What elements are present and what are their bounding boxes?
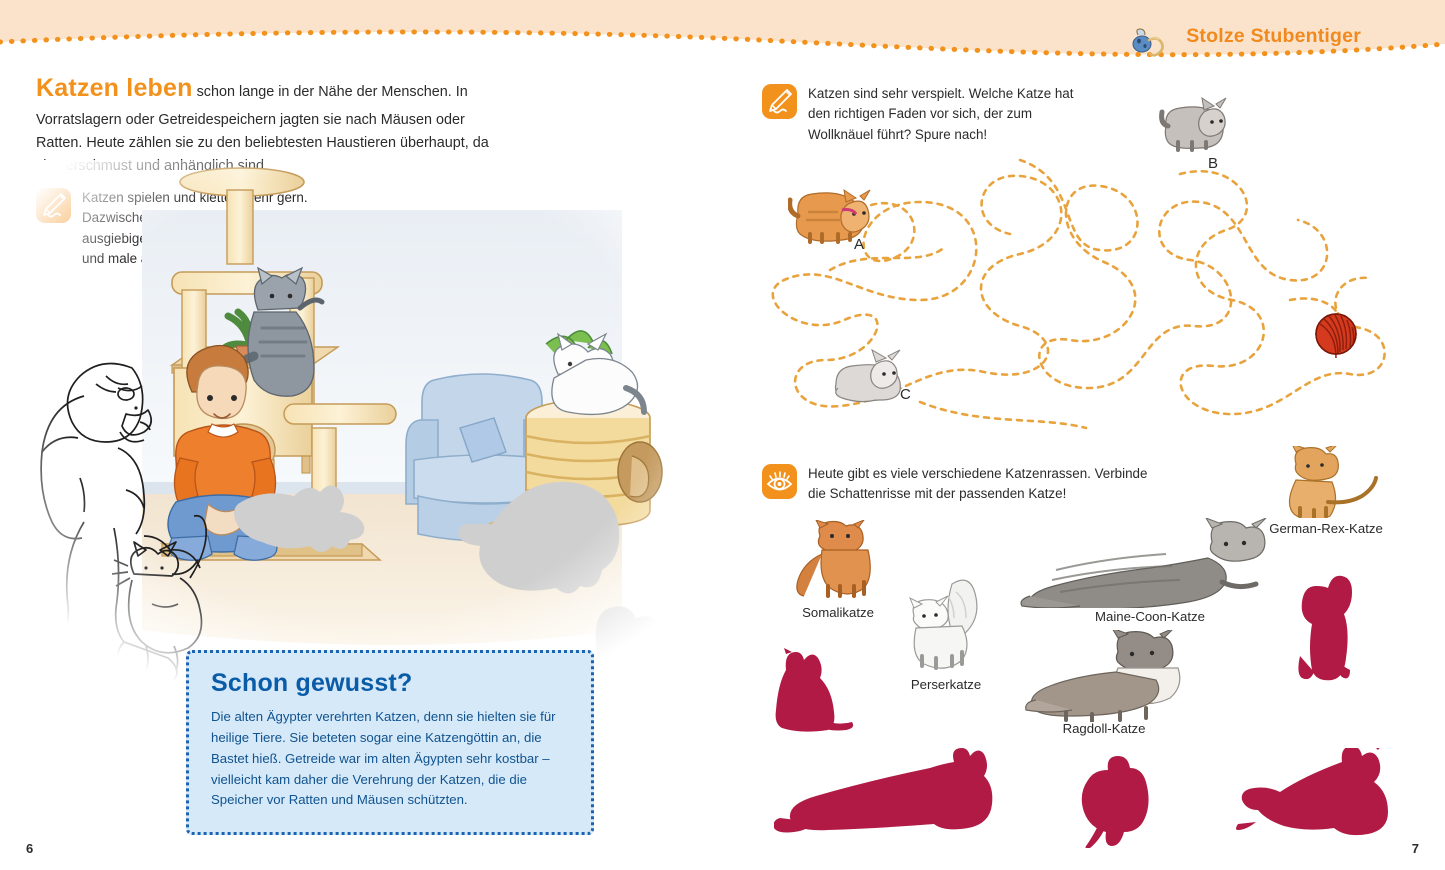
did-you-know-box: Schon gewusst? Die alten Ägypter verehrt… (186, 650, 594, 835)
page-title: Stolze Stubentiger (1186, 25, 1361, 48)
breed-caption: Maine-Coon-Katze (1016, 609, 1284, 624)
task-maze-text: Katzen sind sehr verspielt. Welche Katze… (808, 84, 1092, 145)
german-rex-cat (1256, 446, 1396, 518)
toy-mouse-icon (1128, 27, 1172, 61)
persian-cat (896, 572, 996, 672)
page-number-left: 6 (26, 841, 33, 856)
maze-cat-b (1158, 96, 1234, 159)
silhouette-standing-cat (1072, 756, 1160, 853)
maze-cat-c-label: C (900, 386, 911, 403)
silhouette-lying-long-cat (774, 748, 1004, 853)
breed-caption: Perserkatze (896, 677, 996, 692)
breed-caption: Ragdoll-Katze (1022, 721, 1186, 736)
maze-cat-a-label: A (854, 236, 864, 253)
ragdoll-cat (1022, 630, 1186, 722)
book-spread: Stolze Stubentiger Katzen leben schon la… (0, 0, 1445, 870)
pencil-icon (762, 84, 797, 119)
task-maze: Katzen sind sehr verspielt. Welche Katze… (762, 84, 1092, 145)
breed-german-rex-cat: German-Rex-Katze (1256, 446, 1396, 536)
breed-maine-coon-cat: Maine-Coon-Katze (1016, 518, 1284, 624)
somali-cat (788, 520, 888, 600)
task-matching: Heute gibt es viele verschiedene Katzenr… (762, 464, 1162, 505)
living-room-cat-illustration (22, 160, 702, 680)
breed-ragdoll-cat: Ragdoll-Katze (1022, 630, 1186, 736)
did-you-know-title: Schon gewusst? (211, 669, 571, 698)
breed-persian-cat: Perserkatze (896, 572, 996, 692)
wool-ball (1312, 310, 1360, 363)
intro-lead: Katzen leben (36, 74, 193, 102)
task-matching-text: Heute gibt es viele verschiedene Katzenr… (808, 464, 1162, 505)
maine-coon-cat (1016, 518, 1284, 608)
page-number-right: 7 (1412, 841, 1419, 856)
eye-icon (762, 464, 797, 499)
silhouette-sitting-cat (762, 648, 854, 739)
page-header-banner: Stolze Stubentiger (0, 0, 1445, 62)
breed-caption: Somalikatze (788, 605, 888, 620)
maze-cat-c (830, 348, 910, 409)
silhouette-lying-cat (1226, 748, 1402, 849)
silhouette-standing-fluffy-cat (1290, 574, 1362, 687)
did-you-know-text: Die alten Ägypter verehrten Katzen, denn… (211, 707, 571, 811)
breed-caption: German-Rex-Katze (1256, 521, 1396, 536)
maze-cat-b-label: B (1208, 155, 1218, 172)
breed-somali-cat: Somalikatze (788, 520, 888, 620)
